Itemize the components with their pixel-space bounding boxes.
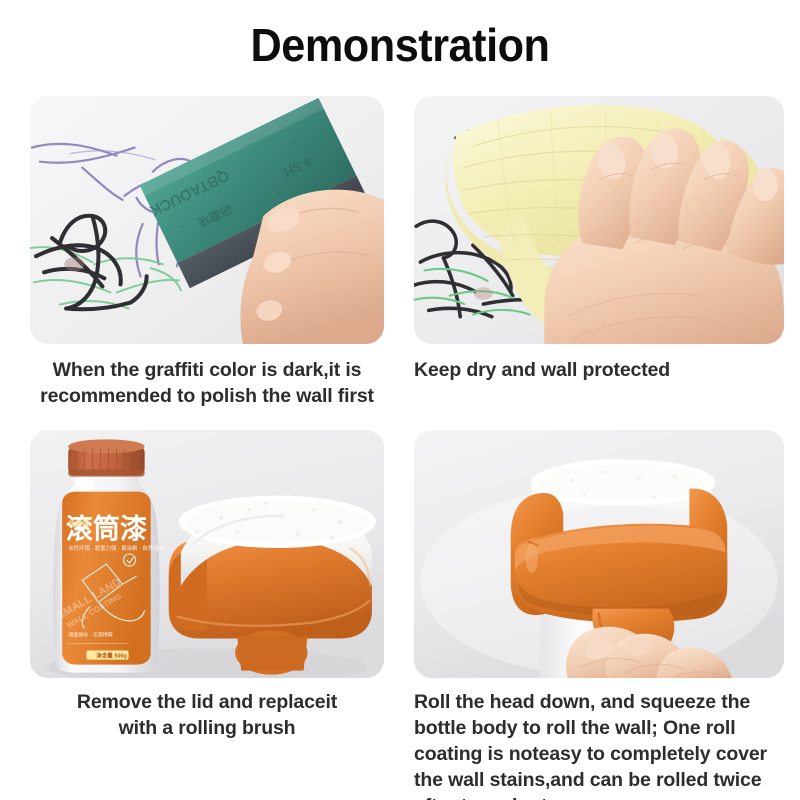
- infographic-page: Demonstration: [0, 0, 800, 800]
- roller-head-on-bottle-held-by-hand: [414, 430, 784, 678]
- caption-line: after ten minutes: [414, 794, 784, 800]
- svg-text:净含量: 净含量: [96, 651, 113, 659]
- panel-row-2: 滚筒漆 优质漆 水性环保 · 遮盖力强 · 易涂刷 · 自然哑光: [0, 430, 800, 800]
- svg-text:滚筒漆: 滚筒漆: [66, 513, 147, 544]
- panel-caption: Remove the lid and replaceit with a roll…: [30, 690, 384, 742]
- caption-line: Roll the head down, and squeeze the: [414, 690, 784, 716]
- panel-replace-lid: 滚筒漆 优质漆 水性环保 · 遮盖力强 · 易涂刷 · 自然哑光: [0, 430, 400, 800]
- panel-caption: Keep dry and wall protected: [414, 358, 784, 384]
- caption-line: coating is noteasy to completely cover: [414, 742, 784, 768]
- svg-text:500g: 500g: [114, 653, 126, 659]
- caption-line: the wall stains,and can be rolled twice: [414, 768, 784, 794]
- paint-bottle-and-roller-brush-head: 滚筒漆 优质漆 水性环保 · 遮盖力强 · 易涂刷 · 自然哑光: [30, 430, 384, 678]
- panel-row-1: QBTAOUCK 8 SH 研磨块: [0, 96, 800, 410]
- page-title: Demonstration: [24, 0, 776, 68]
- panel-caption: Roll the head down, and squeeze the bott…: [414, 690, 784, 800]
- svg-text:优质漆: 优质漆: [68, 519, 89, 528]
- caption-line: Keep dry and wall protected: [414, 358, 784, 384]
- svg-text:————————————: ————————————: [68, 640, 129, 646]
- svg-text:墙面修补 · 无需稀释: 墙面修补 · 无需稀释: [68, 631, 113, 638]
- svg-text:水性环保 · 遮盖力强 · 易涂刷 · 自然哑光: 水性环保 · 遮盖力强 · 易涂刷 · 自然哑光: [68, 544, 164, 552]
- caption-line: Remove the lid and replaceit: [30, 690, 384, 716]
- caption-line: When the graffiti color is dark,it is: [30, 358, 384, 384]
- panel-keep-dry: Keep dry and wall protected: [400, 96, 800, 410]
- caption-line: bottle body to roll the wall; One roll: [414, 716, 784, 742]
- panel-caption: When the graffiti color is dark,it is re…: [30, 358, 384, 410]
- caption-line: recommended to polish the wall first: [30, 384, 384, 410]
- panel-grid: QBTAOUCK 8 SH 研磨块: [0, 96, 800, 800]
- panel-polish-wall: QBTAOUCK 8 SH 研磨块: [0, 96, 400, 410]
- caption-line: with a rolling brush: [30, 716, 384, 742]
- hand-sanding-block-on-graffiti-wall: QBTAOUCK 8 SH 研磨块: [30, 96, 384, 344]
- panel-roll-the-wall: Roll the head down, and squeeze the bott…: [400, 430, 800, 800]
- hand-wiping-wall-with-yellow-cloth: [414, 96, 784, 344]
